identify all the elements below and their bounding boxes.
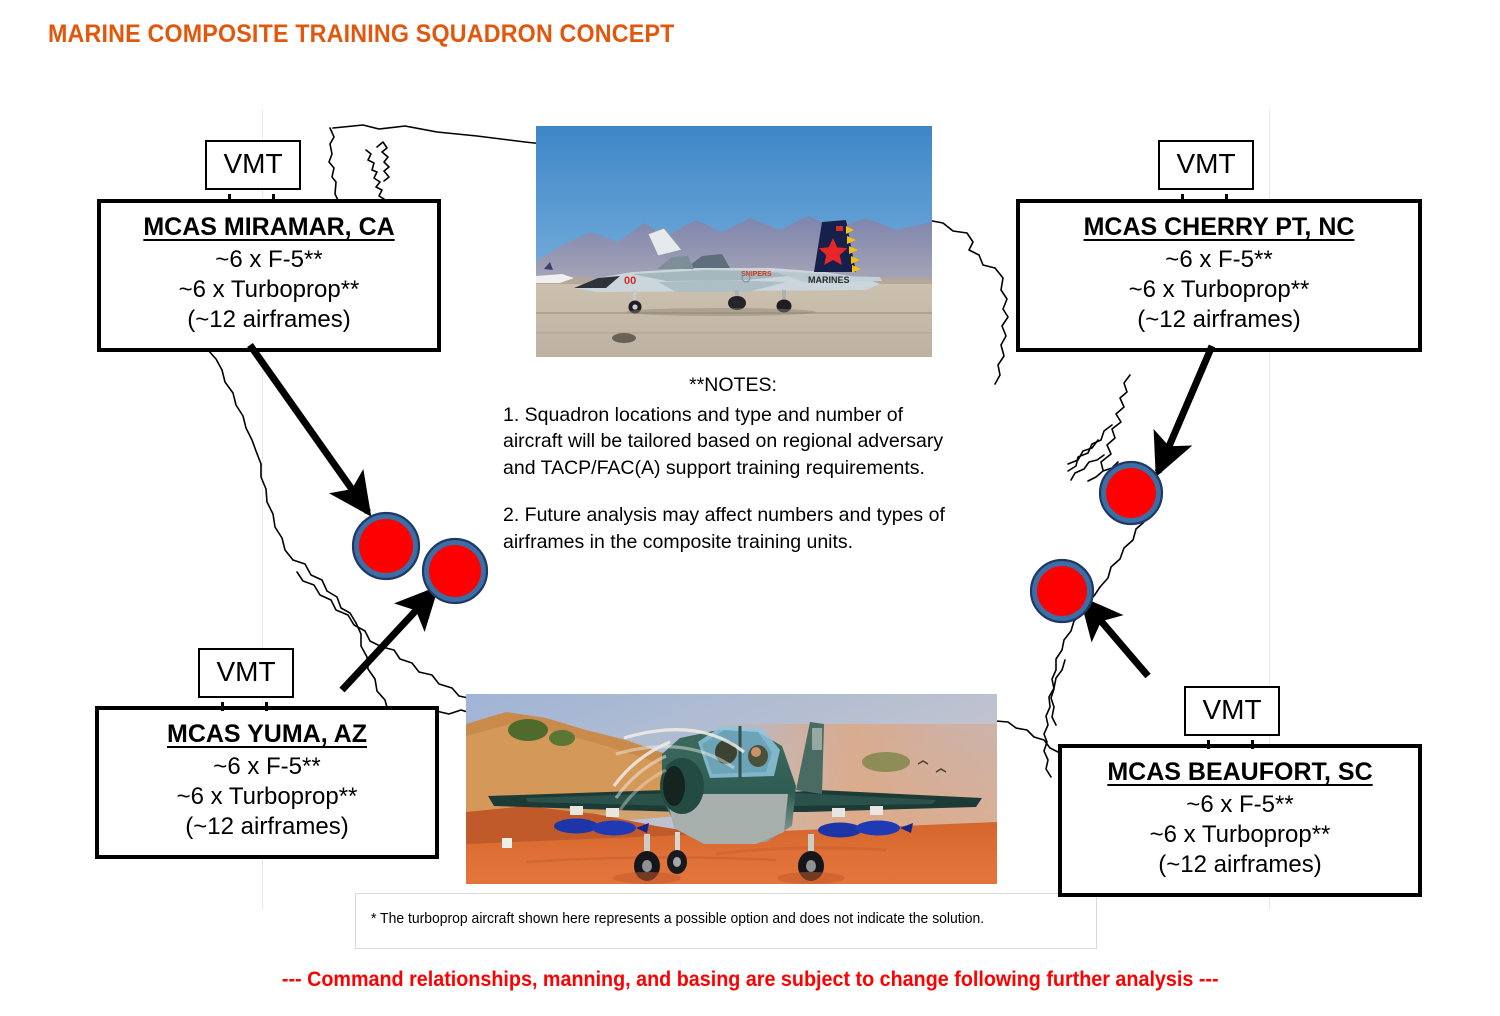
base-box-cherry-pt[interactable]: MCAS CHERRY PT, NC ~6 x F-5** ~6 x Turbo… (1016, 199, 1422, 352)
vmt-tab-miramar[interactable]: VMT (205, 140, 301, 190)
vmt-label: VMT (216, 656, 275, 687)
marker-beaufort (1031, 560, 1093, 622)
page-title: MARINE COMPOSITE TRAINING SQUADRON CONCE… (48, 20, 675, 49)
vmt-tab-yuma[interactable]: VMT (198, 648, 294, 698)
vmt-connector-tick (272, 194, 275, 203)
vmt-tab-cherry-pt[interactable]: VMT (1158, 140, 1254, 190)
svg-text:MARINES: MARINES (808, 275, 850, 285)
base-line-3: (~12 airframes) (1070, 850, 1410, 880)
base-line-2: ~6 x Turboprop** (107, 782, 427, 812)
vmt-connector-tick (228, 194, 231, 203)
vmt-connector-tick (1225, 194, 1228, 203)
notes-block: **NOTES: 1. Squadron locations and type … (503, 372, 963, 575)
arrow-miramar (250, 345, 368, 512)
disclaimer-text: --- Command relationships, manning, and … (0, 968, 1500, 992)
marker-yuma (423, 539, 487, 603)
base-line-1: ~6 x F-5** (107, 752, 427, 782)
base-line-3: (~12 airframes) (107, 812, 427, 842)
base-box-beaufort[interactable]: MCAS BEAUFORT, SC ~6 x F-5** ~6 x Turbop… (1058, 744, 1422, 897)
base-line-2: ~6 x Turboprop** (1070, 820, 1410, 850)
base-line-2: ~6 x Turboprop** (109, 275, 429, 305)
notes-item-2: 2. Future analysis may affect numbers an… (503, 502, 963, 555)
base-line-3: (~12 airframes) (109, 305, 429, 335)
notes-heading: **NOTES: (503, 372, 963, 399)
vmt-connector-tick (1251, 740, 1254, 749)
vmt-connector-tick (1207, 740, 1210, 749)
base-line-2: ~6 x Turboprop** (1028, 275, 1410, 305)
vmt-connector-tick (1181, 194, 1184, 203)
arrow-beaufort (1083, 600, 1148, 676)
vmt-connector-tick (265, 702, 268, 711)
marker-miramar (353, 513, 419, 579)
arrow-cherry-pt (1158, 346, 1212, 472)
base-line-1: ~6 x F-5** (109, 245, 429, 275)
photo-f5-adversary-jet: 00 SNIPERS MARINES (536, 126, 932, 357)
vmt-tab-beaufort[interactable]: VMT (1184, 686, 1280, 736)
base-line-3: (~12 airframes) (1028, 305, 1410, 335)
base-line-1: ~6 x F-5** (1070, 790, 1410, 820)
photo-turboprop-aircraft (466, 694, 997, 884)
marker-cherry-pt (1100, 462, 1162, 524)
base-box-miramar[interactable]: MCAS MIRAMAR, CA ~6 x F-5** ~6 x Turbopr… (97, 199, 441, 352)
base-line-1: ~6 x F-5** (1028, 245, 1410, 275)
base-name: MCAS MIRAMAR, CA (109, 213, 429, 242)
base-name: MCAS CHERRY PT, NC (1028, 213, 1410, 242)
footnote-text: * The turboprop aircraft shown here repr… (371, 910, 984, 927)
vmt-label: VMT (1176, 148, 1235, 179)
svg-text:00: 00 (624, 275, 636, 287)
base-box-yuma[interactable]: MCAS YUMA, AZ ~6 x F-5** ~6 x Turboprop*… (95, 706, 439, 859)
arrow-yuma (342, 590, 435, 690)
vmt-label: VMT (1202, 694, 1261, 725)
notes-item-1: 1. Squadron locations and type and numbe… (503, 402, 963, 482)
vmt-connector-tick (221, 702, 224, 711)
vmt-label: VMT (223, 148, 282, 179)
disclaimer-label: --- Command relationships, manning, and … (282, 968, 1219, 992)
base-name: MCAS BEAUFORT, SC (1070, 758, 1410, 787)
base-name: MCAS YUMA, AZ (107, 720, 427, 749)
